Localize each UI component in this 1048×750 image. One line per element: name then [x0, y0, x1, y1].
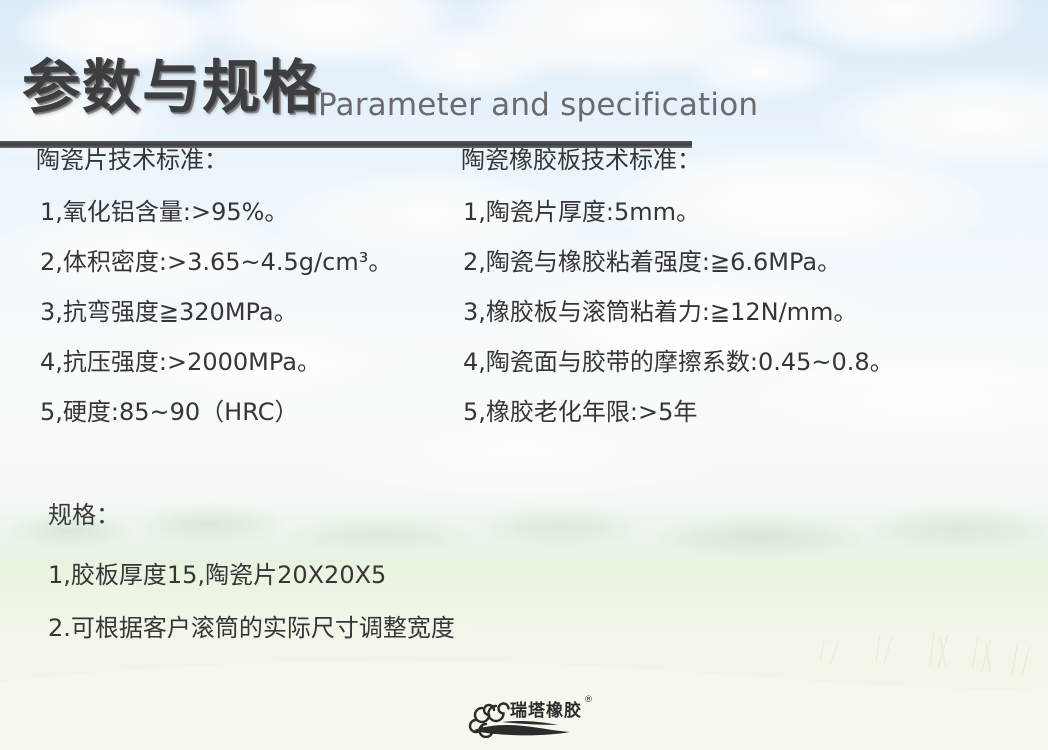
slide-canvas: 参数与规格 Parameter and specification 陶瓷片技术标… [0, 0, 1048, 750]
spec-item: 2,陶瓷与橡胶粘着强度:≧6.6MPa。 [463, 250, 1021, 274]
spec-item: 1,氧化铝含量:>95%。 [40, 200, 456, 224]
spec-item: 2,体积密度:>3.65~4.5g/cm³。 [40, 250, 456, 274]
spec-item: 3,抗弯强度≧320MPa。 [40, 300, 456, 324]
spec-item: 1,陶瓷片厚度:5mm。 [463, 200, 1021, 224]
specification-item: 1,胶板厚度15,陶瓷片20X20X5 [48, 563, 748, 587]
specification-block: 规格： 1,胶板厚度15,陶瓷片20X20X5 2.可根据客户滚筒的实际尺寸调整… [48, 503, 748, 669]
spec-column-ceramic-rubber-panel: 陶瓷橡胶板技术标准： 1,陶瓷片厚度:5mm。 2,陶瓷与橡胶粘着强度:≧6.6… [461, 148, 1021, 450]
page-title-en: Parameter and specification [318, 90, 758, 121]
slide-header: 参数与规格 Parameter and specification [0, 28, 1048, 124]
page-title-cn: 参数与规格 [22, 58, 322, 116]
spec-column-ceramic-tile: 陶瓷片技术标准： 1,氧化铝含量:>95%。 2,体积密度:>3.65~4.5g… [36, 148, 456, 450]
logo-wordmark: 瑞塔橡胶 [510, 696, 582, 721]
spec-item: 5,硬度:85~90（HRC） [40, 400, 456, 424]
specification-item: 2.可根据客户滚筒的实际尺寸调整宽度 [48, 616, 748, 640]
spec-item: 5,橡胶老化年限:>5年 [463, 400, 1021, 424]
registered-trademark-icon: ® [584, 695, 593, 705]
spec-column-heading: 陶瓷橡胶板技术标准： [461, 148, 1021, 172]
brand-logo: 瑞塔橡胶 ® [466, 692, 606, 738]
spec-item: 4,陶瓷面与胶带的摩擦系数:0.45~0.8。 [463, 350, 1021, 374]
specification-heading: 规格： [48, 503, 748, 527]
spec-item: 4,抗压强度:>2000MPa。 [40, 350, 456, 374]
spec-column-heading: 陶瓷片技术标准： [36, 148, 456, 172]
spec-item: 3,橡胶板与滚筒粘着力:≧12N/mm。 [463, 300, 1021, 324]
